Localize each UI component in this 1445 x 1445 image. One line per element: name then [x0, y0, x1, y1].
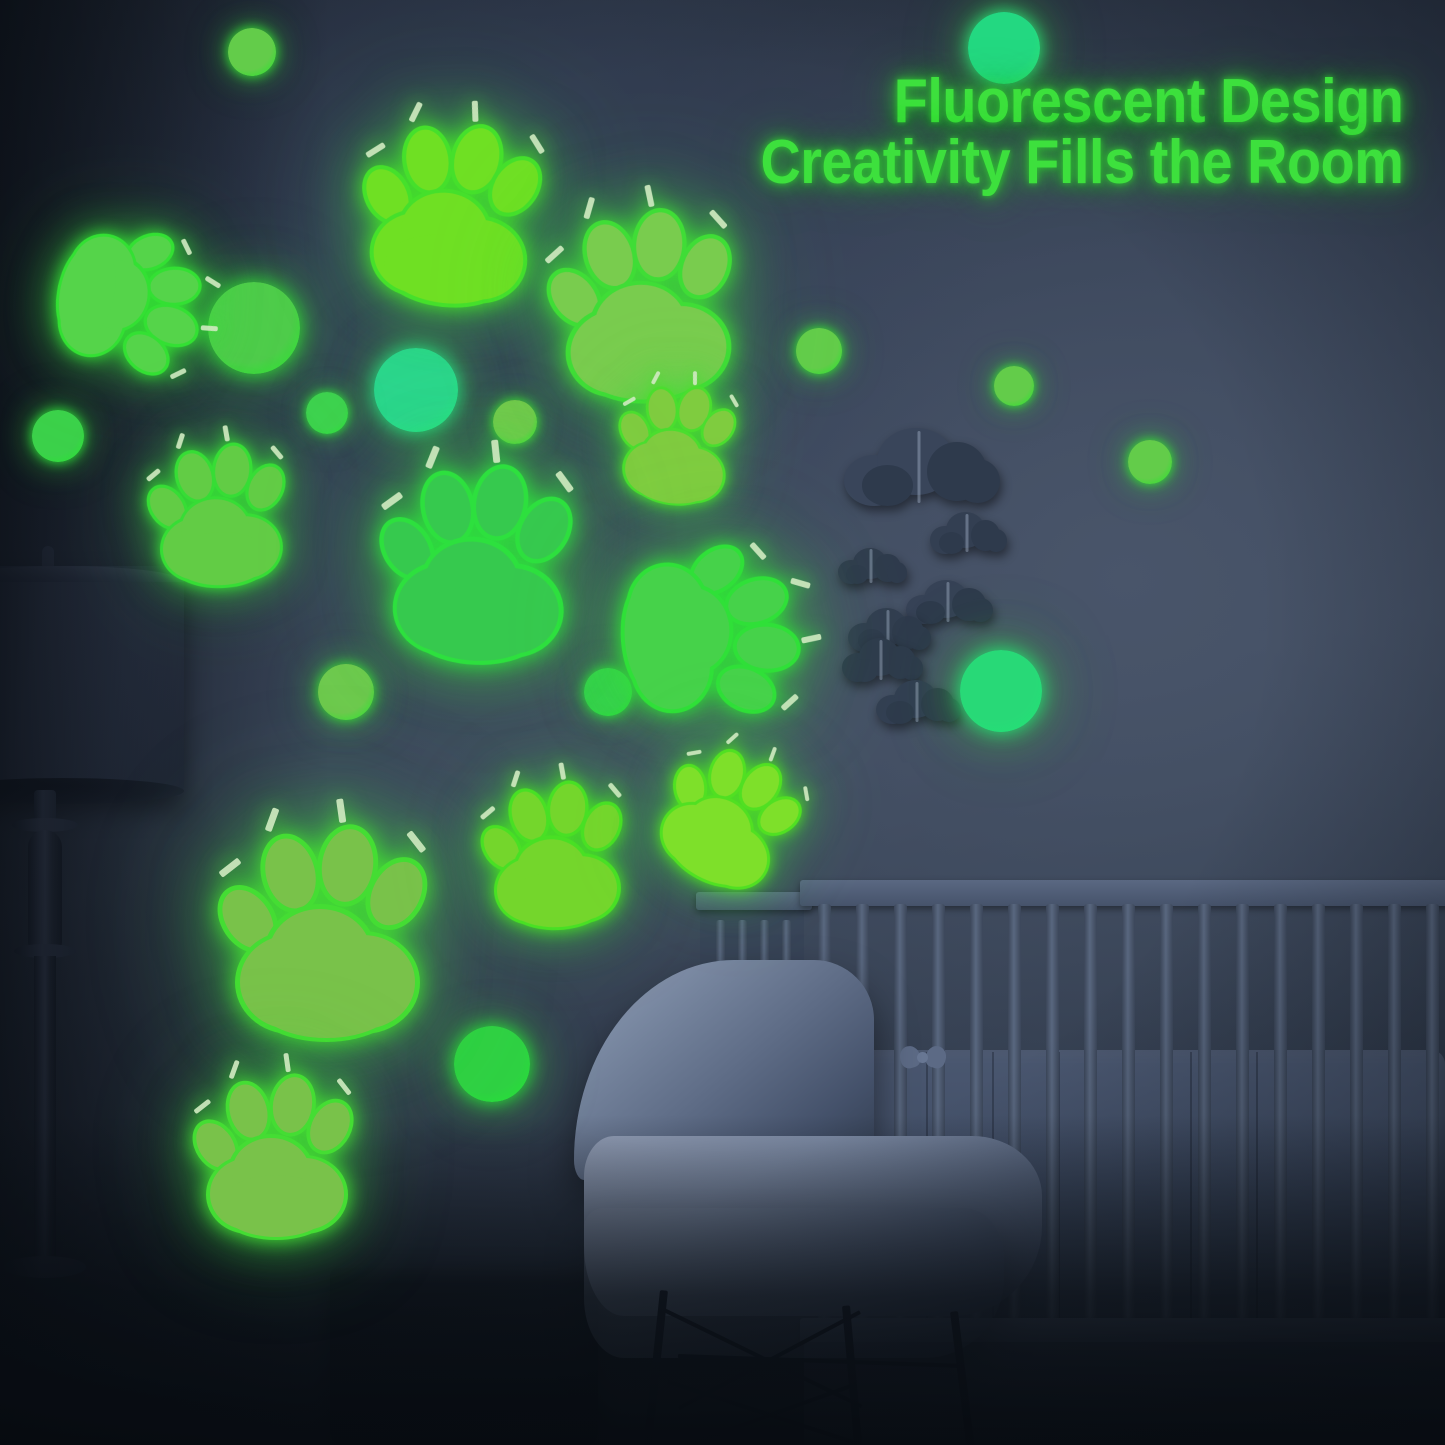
paw-pad [354, 109, 563, 318]
dot-13 [960, 650, 1042, 732]
product-scene: Fluorescent Design Creativity Fills the … [0, 0, 1445, 1445]
paw-small-right [611, 374, 751, 514]
dot-06 [493, 400, 537, 444]
headline: Fluorescent Design Creativity Fills the … [760, 72, 1403, 194]
paw-bottom-left [196, 1070, 366, 1240]
paw-low-left [222, 820, 444, 1042]
paw-pad [615, 542, 809, 736]
paw-pad [196, 1070, 366, 1240]
paw-pad [41, 217, 219, 395]
paw-low-center [481, 775, 638, 932]
dot-03 [208, 282, 300, 374]
paw-mid-center [379, 456, 591, 668]
paw-pad [379, 456, 591, 668]
paw-mid-right [615, 542, 809, 736]
dot-07 [32, 410, 84, 462]
paw-pad-lobe [220, 1175, 332, 1236]
dot-10 [1128, 440, 1172, 484]
dot-09 [994, 366, 1034, 406]
paw-pad [481, 775, 638, 932]
paw-pad [147, 437, 300, 590]
dot-01 [228, 28, 276, 76]
dot-08 [796, 328, 842, 374]
paw-pad [611, 374, 751, 514]
headline-line-2: Creativity Fills the Room [760, 133, 1403, 194]
paw-mid-left [147, 437, 300, 590]
paw-top-left [41, 217, 219, 395]
paw-pad [222, 820, 444, 1042]
paw-top-center [354, 109, 563, 318]
dot-04 [374, 348, 458, 432]
dot-05 [306, 392, 348, 434]
paw-pad-lobe [253, 958, 400, 1038]
dot-11 [318, 664, 374, 720]
headline-line-1: Fluorescent Design [760, 72, 1403, 133]
dot-14 [454, 1026, 530, 1102]
